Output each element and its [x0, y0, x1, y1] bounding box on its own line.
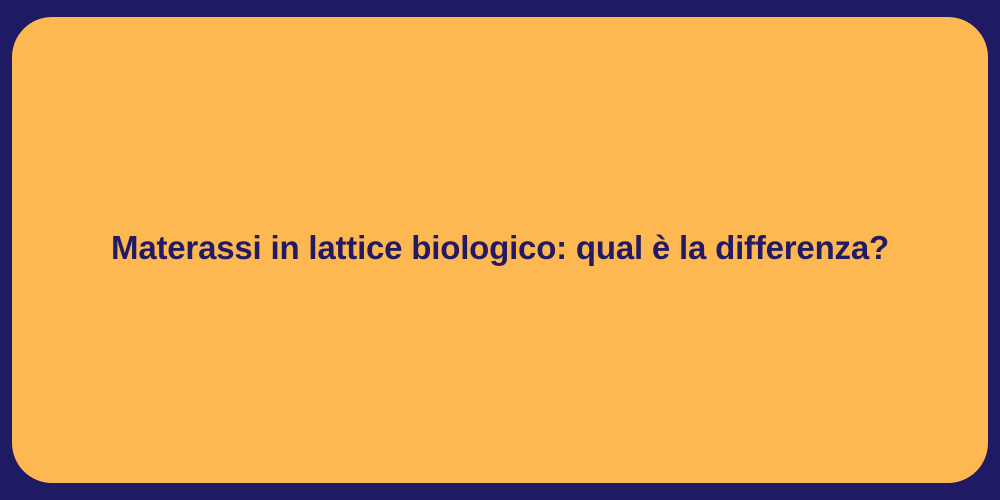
page-frame: Materassi in lattice biologico: qual è l… — [0, 0, 1000, 500]
headline-card: Materassi in lattice biologico: qual è l… — [12, 17, 988, 483]
page-title: Materassi in lattice biologico: qual è l… — [71, 227, 929, 268]
